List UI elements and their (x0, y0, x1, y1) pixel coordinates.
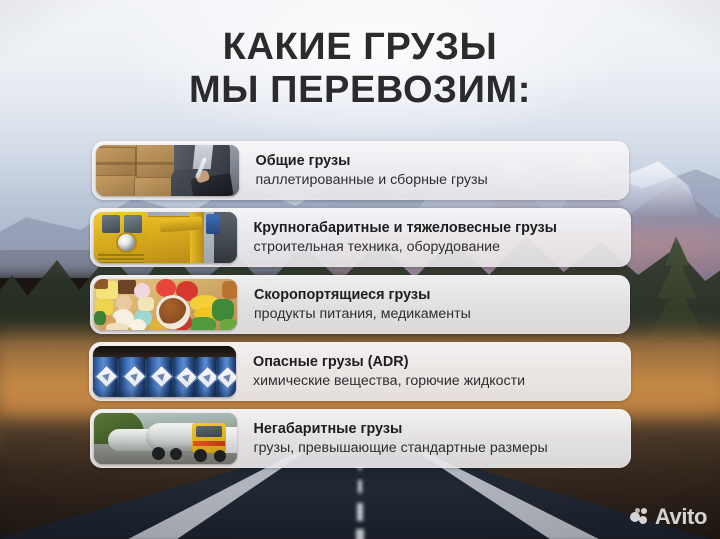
food-item (94, 311, 106, 325)
road-center-dash (357, 503, 363, 521)
thumbnail-adr-blue-barrels (93, 346, 236, 397)
food-item (94, 279, 108, 289)
road-center-dash (358, 480, 362, 493)
title-line-1: КАКИЕ ГРУЗЫ (223, 26, 498, 68)
list-item-title: Общие грузы (256, 152, 488, 170)
list-item-text: Крупногабаритные и тяжеловесные грузы ст… (237, 219, 567, 257)
thumbnail-perishable-food (94, 279, 237, 330)
road-center-dash (356, 529, 364, 539)
list-item[interactable]: Негабаритные грузы грузы, превышающие ст… (90, 409, 631, 468)
list-item-text: Общие грузы паллетированные и сборные гр… (239, 152, 498, 190)
avito-wordmark: Avito (655, 506, 707, 528)
food-item (106, 323, 128, 330)
food-item (212, 299, 234, 321)
list-item[interactable]: Крупногабаритные и тяжеловесные грузы ст… (90, 208, 631, 267)
avito-watermark: Avito (630, 506, 707, 528)
list-item[interactable]: Общие грузы паллетированные и сборные гр… (92, 141, 629, 200)
title-line-2: МЫ ПЕРЕВОЗИМ: (0, 69, 720, 112)
thumbnail-oversize-tanker-convoy (94, 413, 237, 464)
list-item-title: Опасные грузы (ADR) (253, 353, 525, 371)
list-item-text: Опасные грузы (ADR) химические вещества,… (236, 353, 535, 391)
food-item (190, 317, 216, 330)
list-item-subtitle: химические вещества, горючие жидкости (253, 372, 525, 390)
food-item (222, 281, 237, 299)
list-item-title: Скоропортящиеся грузы (254, 286, 471, 304)
list-item-title: Крупногабаритные и тяжеловесные грузы (254, 219, 557, 237)
food-item (138, 297, 154, 311)
food-item (220, 319, 237, 330)
list-item-text: Скоропортящиеся грузы продукты питания, … (237, 286, 481, 324)
list-item-subtitle: грузы, превышающие стандартные размеры (254, 439, 548, 457)
list-item-text: Негабаритные грузы грузы, превышающие ст… (237, 420, 558, 458)
cargo-list: Общие грузы паллетированные и сборные гр… (0, 141, 720, 476)
page-title: КАКИЕ ГРУЗЫ МЫ ПЕРЕВОЗИМ: (0, 26, 720, 111)
thumbnail-heavy-machinery (94, 212, 237, 263)
avito-logo-icon (630, 507, 650, 527)
list-item-subtitle: строительная техника, оборудование (254, 238, 557, 256)
list-item-subtitle: паллетированные и сборные грузы (256, 171, 488, 189)
poster-canvas: КАКИЕ ГРУЗЫ МЫ ПЕРЕВОЗИМ: Общие грузы (0, 0, 720, 539)
list-item[interactable]: Опасные грузы (ADR) химические вещества,… (89, 342, 631, 401)
list-item-title: Негабаритные грузы (254, 420, 548, 438)
list-item-subtitle: продукты питания, медикаменты (254, 305, 471, 323)
list-item[interactable]: Скоропортящиеся грузы продукты питания, … (90, 275, 630, 334)
thumbnail-general-cargo-boxes-worker (96, 145, 239, 196)
food-item (130, 319, 146, 330)
